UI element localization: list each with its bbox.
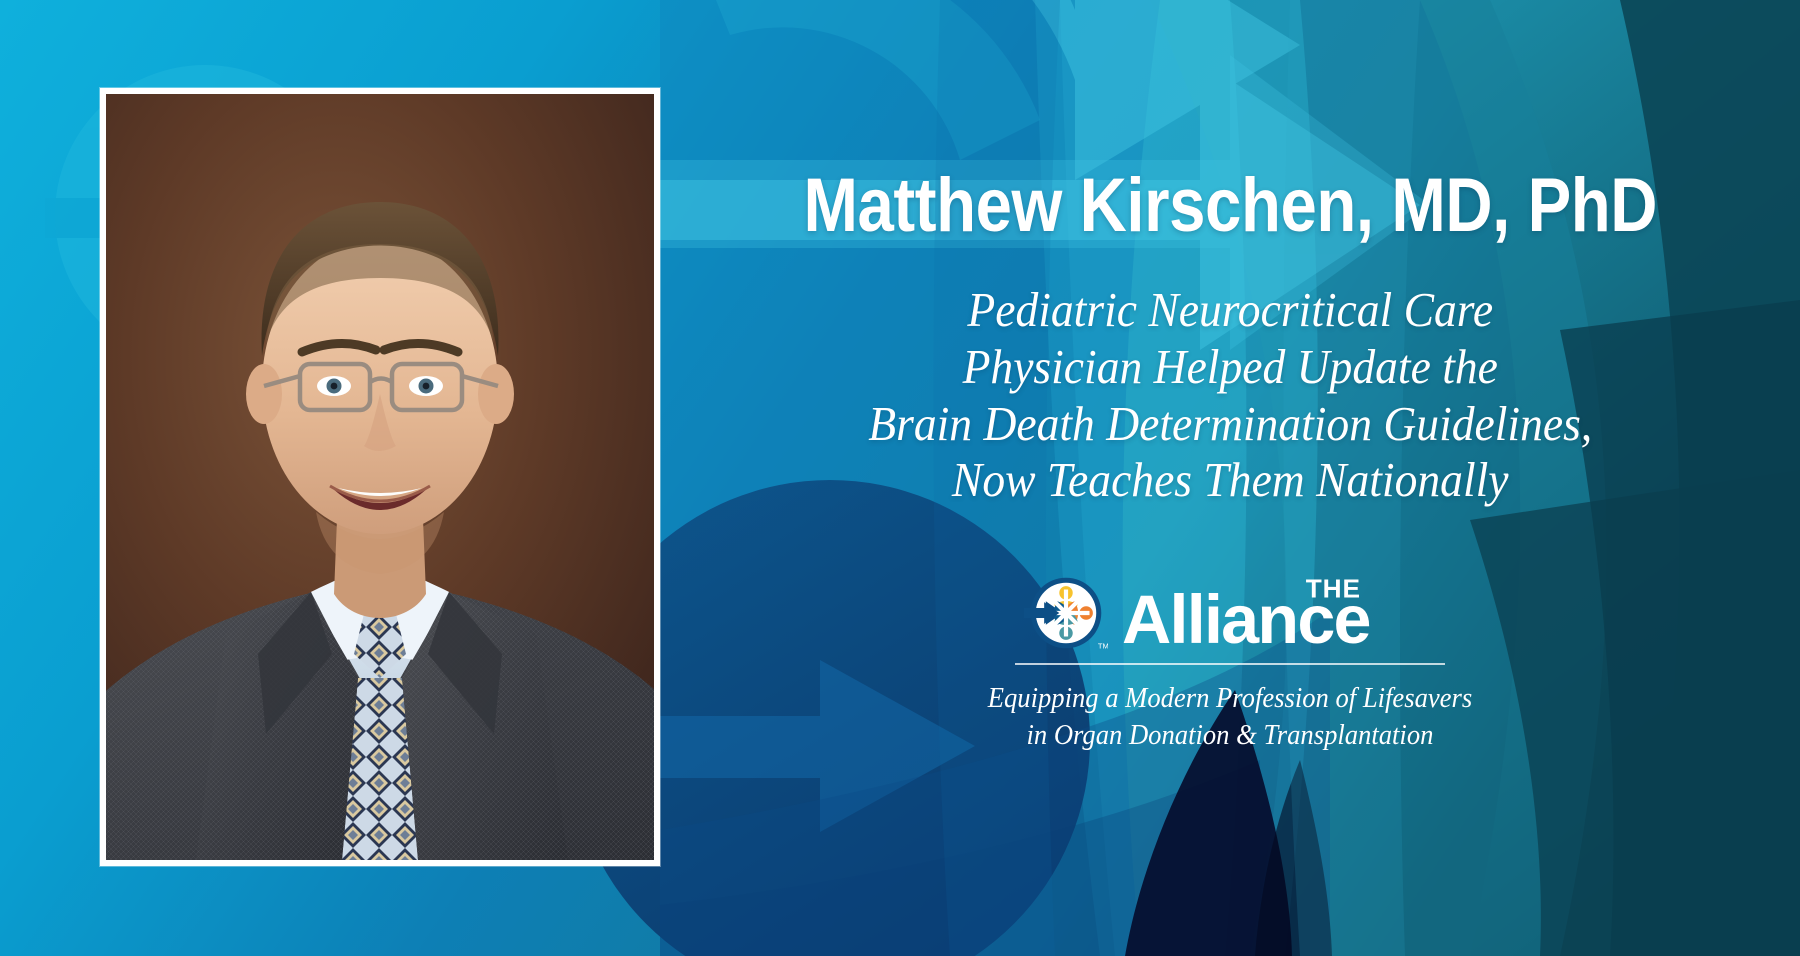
speaker-subheadline: Pediatric Neurocritical Care Physician H… — [868, 282, 1592, 509]
wordmark-alliance-text: Alliance — [1122, 582, 1370, 655]
alliance-logo-lockup: TM THE Alliance Equipping a Modern Profe… — [975, 571, 1485, 754]
trademark-symbol: TM — [1097, 642, 1107, 651]
tagline-line-1: Equipping a Modern Profession of Lifesav… — [988, 681, 1472, 717]
alliance-wordmark: THE Alliance — [1122, 571, 1437, 655]
subheadline-line-1: Pediatric Neurocritical Care — [868, 282, 1592, 339]
speaker-portrait-photo — [106, 94, 654, 860]
tagline-line-2: in Organ Donation & Transplantation — [988, 718, 1472, 754]
logo-row: TM THE Alliance — [1024, 571, 1437, 655]
subheadline-line-4: Now Teaches Them Nationally — [868, 452, 1592, 509]
speaker-name-heading: Matthew Kirschen, MD, PhD — [803, 168, 1657, 244]
promo-graphic-canvas: Matthew Kirschen, MD, PhD Pediatric Neur… — [0, 0, 1800, 956]
organization-tagline: Equipping a Modern Profession of Lifesav… — [988, 681, 1472, 754]
subheadline-line-3: Brain Death Determination Guidelines, — [868, 396, 1592, 453]
subheadline-line-2: Physician Helped Update the — [868, 339, 1592, 396]
speaker-portrait-frame — [100, 88, 660, 866]
logo-divider-rule — [1015, 663, 1445, 665]
content-column: Matthew Kirschen, MD, PhD Pediatric Neur… — [660, 0, 1800, 956]
alliance-circle-people-arrow-mark: TM — [1024, 571, 1108, 655]
